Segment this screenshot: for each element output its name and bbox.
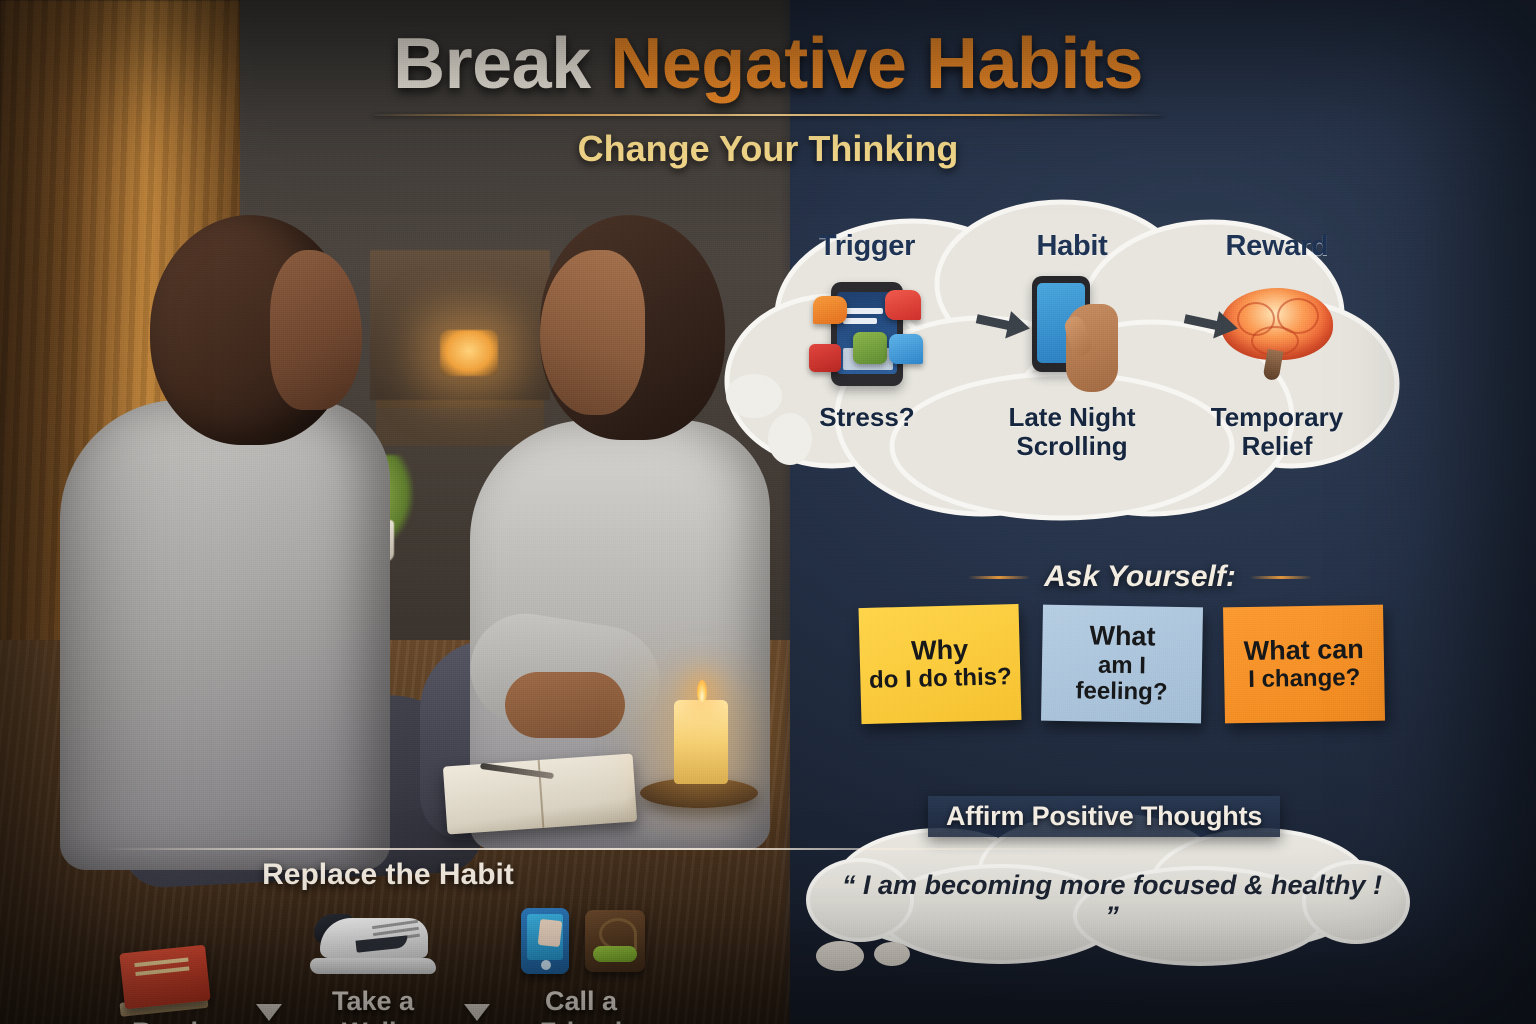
section-divider: [100, 848, 1140, 850]
replace-item-label: Take a Walk: [298, 986, 448, 1024]
habit-loop-steps: Trigger: [782, 230, 1362, 520]
affirmation-section: Affirm Positive Thoughts “ I am becoming…: [800, 796, 1420, 986]
phone-plant-icon: [506, 902, 656, 974]
note-line-2: am I feeling?: [1049, 652, 1194, 707]
journal-notebook: [443, 753, 637, 834]
candle: [674, 700, 728, 784]
replace-item-read[interactable]: Read: [90, 933, 240, 1024]
loop-step-title: Reward: [1192, 230, 1362, 263]
loop-step-reward: Reward Temporary Relief: [1192, 230, 1362, 461]
sticky-notes-row: Why do I do this? What am I feeling? Wha…: [860, 606, 1420, 722]
habit-loop-thought-cloud: Trigger: [712, 196, 1412, 546]
loop-step-caption: Stress?: [782, 403, 952, 432]
loop-step-title: Habit: [987, 230, 1157, 263]
replace-item-label: Call a Friend: [506, 986, 656, 1024]
title-part-1: Break: [393, 24, 610, 104]
sticky-note-why[interactable]: Why do I do this?: [859, 604, 1022, 724]
note-line-1: What: [1089, 622, 1155, 651]
affirmation-heading: Affirm Positive Thoughts: [928, 796, 1280, 837]
replace-habit-section: Replace the Habit Read Take a Walk: [40, 840, 680, 1024]
page-subtitle: Change Your Thinking: [0, 128, 1536, 170]
lamp-glow: [440, 330, 498, 376]
sticky-note-change[interactable]: What can I change?: [1223, 605, 1385, 724]
affirmation-quote: “ I am becoming more focused & healthy !…: [836, 870, 1388, 932]
note-line-1: What can: [1243, 635, 1363, 665]
infographic-poster: Break Negative Habits Change Your Thinki…: [0, 0, 1536, 1024]
loop-step-trigger: Trigger: [782, 230, 952, 432]
divider-right: [1250, 576, 1312, 579]
ask-yourself-header: Ask Yourself:: [860, 560, 1420, 594]
sneaker-icon: [298, 902, 448, 974]
note-line-2: I change?: [1248, 665, 1360, 693]
loop-step-caption: Late Night Scrolling: [987, 403, 1157, 461]
replace-item-walk[interactable]: Take a Walk: [298, 902, 448, 1024]
replace-item-label: Read: [90, 1017, 240, 1024]
person-right-face: [540, 250, 645, 415]
replace-habit-items: Read Take a Walk: [40, 902, 680, 1024]
arrow-down-icon: [256, 976, 282, 1024]
page-title: Break Negative Habits: [0, 28, 1536, 100]
loop-step-title: Trigger: [782, 230, 952, 263]
title-part-2: Negative Habits: [610, 24, 1143, 104]
divider-left: [968, 576, 1030, 579]
note-line-1: Why: [911, 635, 969, 665]
loop-step-habit: Habit Late Night Scrolling: [987, 230, 1157, 461]
ask-yourself-label: Ask Yourself:: [1044, 560, 1236, 594]
note-line-2: do I do this?: [869, 664, 1012, 694]
shelf: [370, 250, 550, 400]
sticky-note-feeling[interactable]: What am I feeling?: [1041, 605, 1203, 724]
loop-step-caption: Temporary Relief: [1192, 403, 1362, 461]
candle-flame-icon: [697, 680, 707, 702]
ask-yourself-section: Ask Yourself: Why do I do this? What am …: [860, 560, 1420, 722]
book-icon: [90, 933, 240, 1005]
person-right-hand: [505, 672, 625, 738]
replace-habit-heading: Replace the Habit: [40, 858, 680, 892]
arrow-down-icon: [464, 976, 490, 1024]
arrow-right-icon: [974, 308, 1034, 342]
arrow-right-icon: [1182, 308, 1242, 342]
phone-notifications-icon: [782, 269, 952, 399]
replace-item-call[interactable]: Call a Friend: [506, 902, 656, 1024]
person-left-body: [60, 400, 390, 870]
title-divider: [373, 114, 1163, 116]
title-block: Break Negative Habits Change Your Thinki…: [0, 28, 1536, 170]
